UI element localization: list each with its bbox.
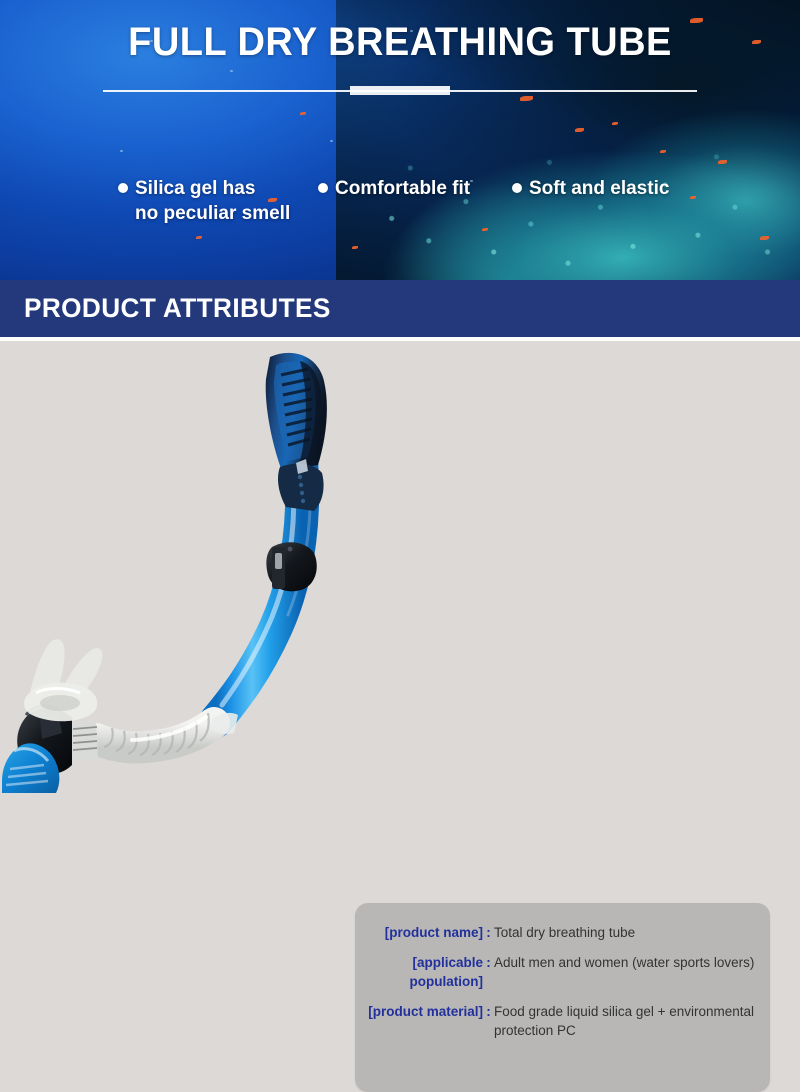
fish-icon: [520, 96, 533, 101]
section-header-bar: PRODUCT ATTRIBUTES: [0, 280, 800, 337]
particle: [120, 150, 123, 152]
fish-icon: [718, 160, 727, 164]
spec-label: [product material]: [355, 1002, 483, 1021]
section-title: PRODUCT ATTRIBUTES: [24, 293, 331, 324]
feature-bullet: Silica gel has no peculiar smell: [118, 176, 290, 226]
fish-icon: [575, 128, 584, 132]
spec-separator: :: [483, 953, 494, 972]
particle: [230, 70, 233, 72]
spec-value: Adult men and women (water sports lovers…: [494, 953, 770, 972]
threaded-connector: [72, 721, 98, 761]
clip-latch: [275, 553, 282, 569]
bullet-dot-icon: [118, 183, 128, 193]
mouthpiece-aperture: [40, 695, 80, 711]
silicone-mouthpiece: [24, 639, 102, 721]
corrugated-section: [96, 713, 214, 755]
feature-bullet-list: Silica gel has no peculiar smell Comfort…: [0, 176, 800, 256]
specifications-list: [product name] : Total dry breathing tub…: [355, 923, 770, 1051]
product-marketing-page: FULL DRY BREATHING TUBE Silica gel has n…: [0, 0, 800, 800]
snorkel-product-image: [0, 341, 400, 800]
fish-icon: [300, 112, 306, 115]
product-attributes-panel: [product name] : Total dry breathing tub…: [0, 341, 800, 800]
feature-bullet-line1: Comfortable fit: [335, 178, 470, 199]
spec-label: [product name]: [355, 923, 483, 942]
feature-bullet: Soft and elastic: [512, 176, 669, 201]
title-divider-accent: [350, 86, 450, 95]
fish-icon: [660, 150, 666, 153]
feature-bullet: Comfortable fit: [318, 176, 470, 201]
feature-bullet-line1: Soft and elastic: [529, 178, 669, 199]
spec-label: [applicable population]: [355, 953, 483, 991]
feature-bullet-line2: no peculiar smell: [135, 201, 290, 226]
hero-title: FULL DRY BREATHING TUBE: [20, 22, 780, 62]
spec-value: Total dry breathing tube: [494, 923, 770, 942]
specifications-box: [product name] : Total dry breathing tub…: [355, 903, 770, 1092]
particle: [330, 140, 333, 142]
bullet-dot-icon: [512, 183, 522, 193]
hero-banner: FULL DRY BREATHING TUBE Silica gel has n…: [0, 0, 800, 280]
clip-rivet: [288, 547, 293, 552]
bullet-dot-icon: [318, 183, 328, 193]
spec-row: [product material] : Food grade liquid s…: [355, 1002, 770, 1040]
spec-separator: :: [483, 923, 494, 942]
spec-row: [product name] : Total dry breathing tub…: [355, 923, 770, 942]
fish-icon: [612, 122, 618, 125]
spec-separator: :: [483, 1002, 494, 1021]
spec-row: [applicable population] : Adult men and …: [355, 953, 770, 991]
dry-top-valve: [266, 353, 327, 511]
spec-value: Food grade liquid silica gel + environme…: [494, 1002, 770, 1040]
mask-clip: [266, 542, 316, 591]
feature-bullet-line1: Silica gel has: [135, 178, 255, 199]
